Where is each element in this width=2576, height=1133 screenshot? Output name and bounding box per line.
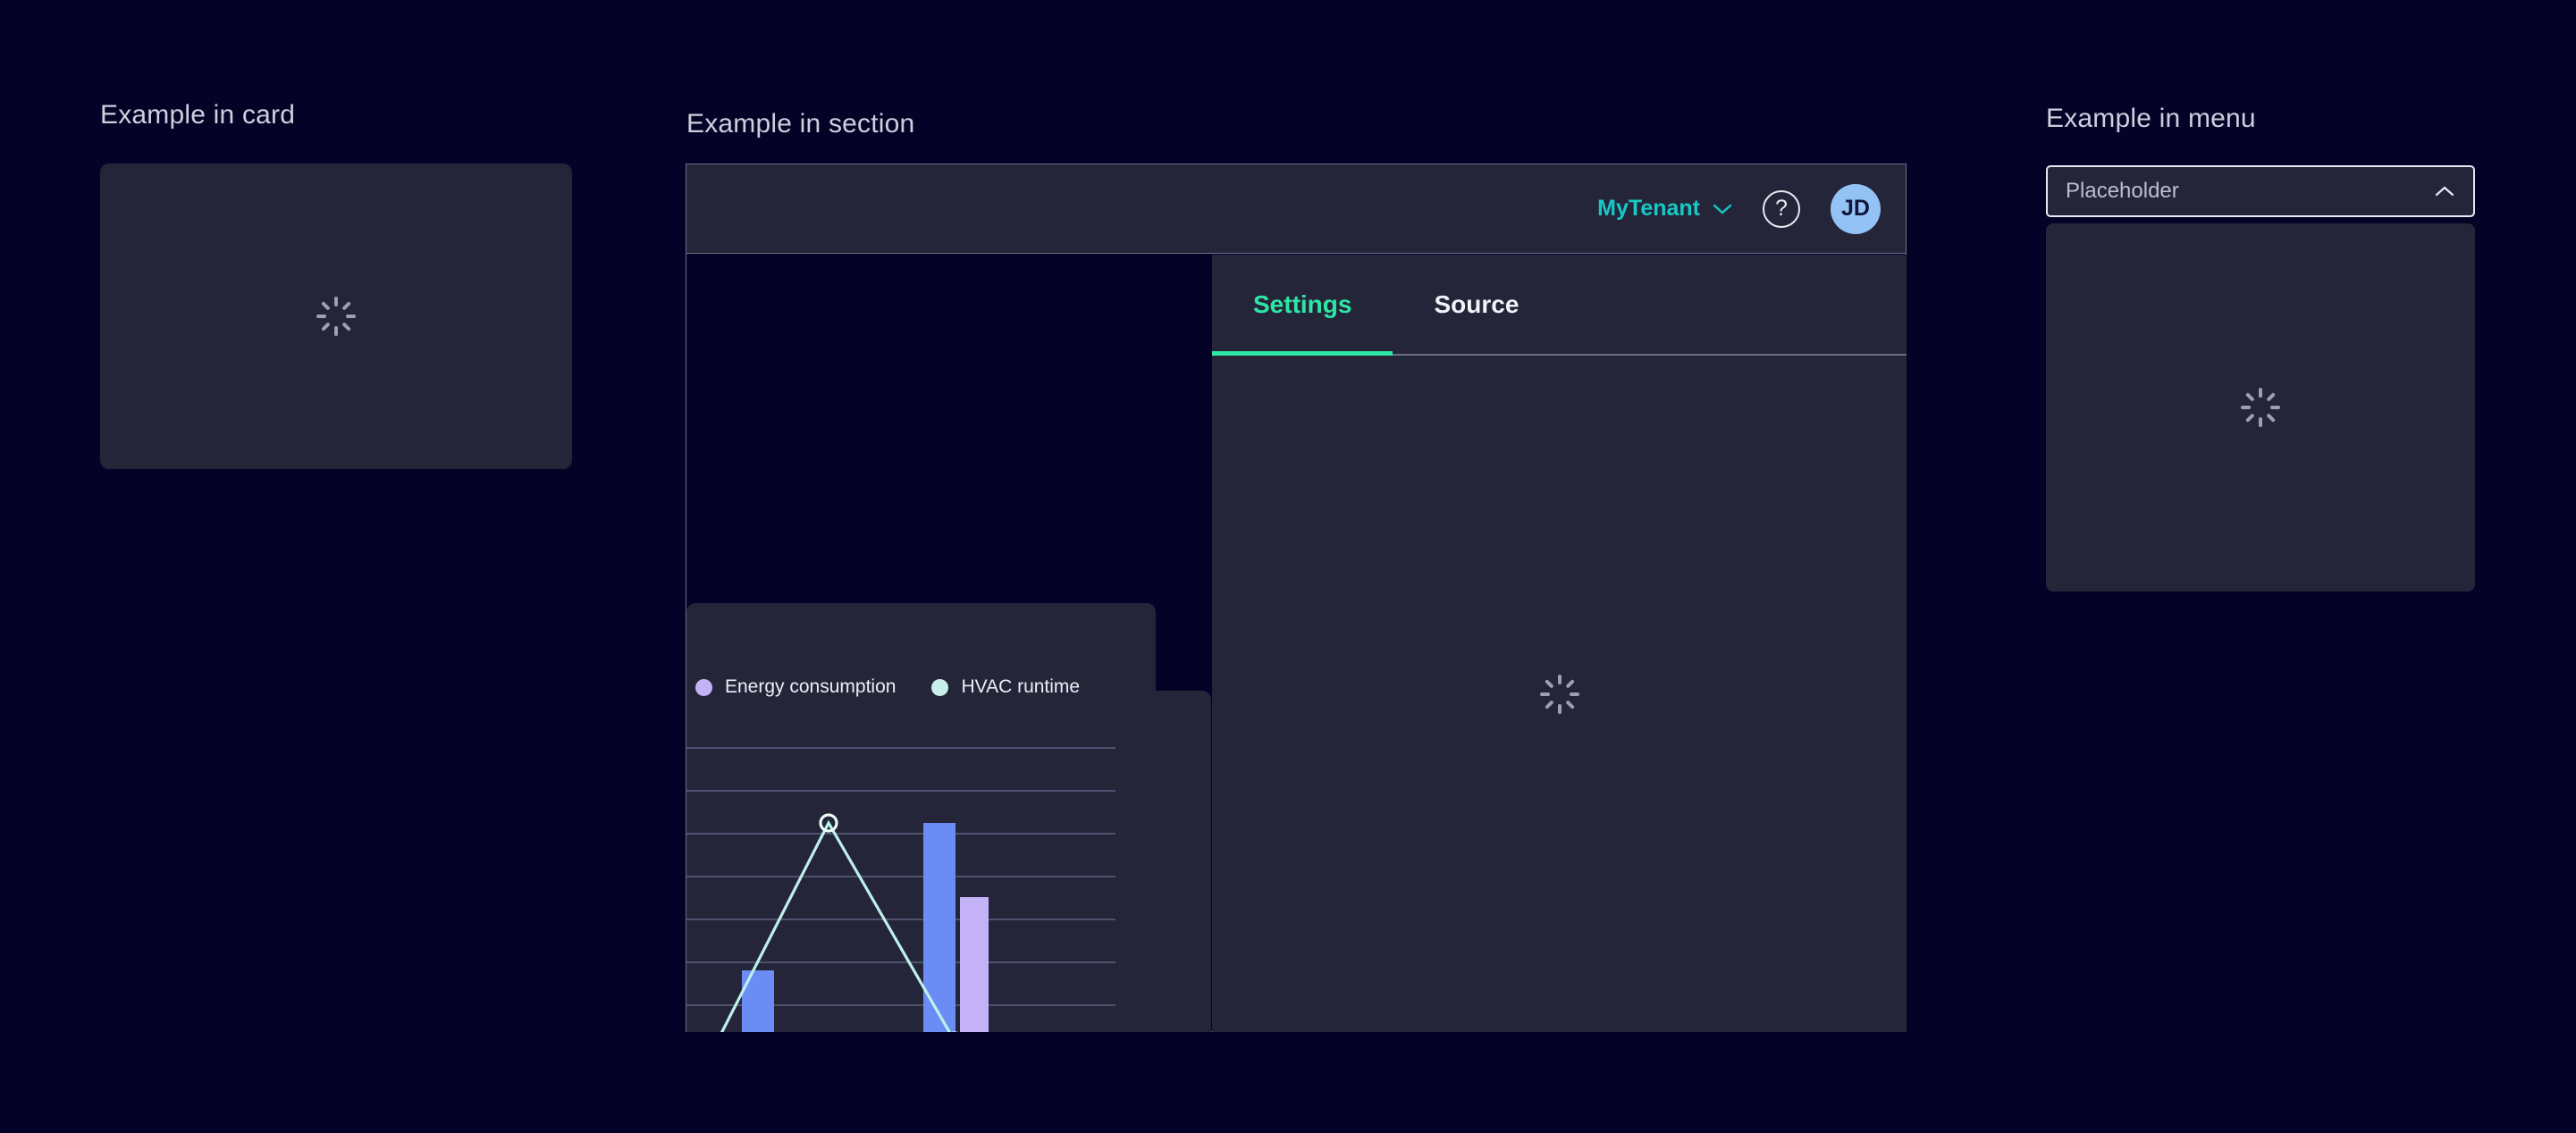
legend-swatch-icon [931, 679, 948, 696]
loading-spinner-icon [316, 296, 357, 337]
legend-item[interactable]: HVAC runtime [931, 676, 1080, 698]
tab-settings[interactable]: Settings [1212, 255, 1393, 354]
secondary-strip-panel [1156, 691, 1211, 1032]
loading-spinner-icon [1539, 674, 1580, 715]
avatar-initials: JD [1841, 196, 1870, 222]
card-example-heading: Example in card [100, 100, 295, 130]
section-example-heading: Example in section [686, 109, 914, 139]
legend-label: Energy consumption [725, 676, 896, 698]
example-card [100, 164, 572, 469]
bar [960, 897, 989, 1032]
tenant-switcher[interactable]: MyTenant [1597, 196, 1732, 222]
tab-bar: Settings Source [1212, 255, 1907, 356]
help-question-icon[interactable]: ? [1763, 190, 1800, 228]
tab-label: Source [1434, 290, 1519, 319]
avatar[interactable]: JD [1831, 184, 1881, 234]
bar [742, 970, 774, 1032]
page-root: Example in card Example in section MyTen… [0, 0, 2576, 1133]
chart-plot [686, 728, 1156, 1032]
dropdown-menu-panel [2046, 223, 2475, 592]
menu-example-heading: Example in menu [2046, 104, 2256, 134]
bar [923, 823, 955, 1032]
tab-source[interactable]: Source [1393, 255, 1560, 354]
select-value: Placeholder [2066, 179, 2179, 204]
legend-swatch-icon [695, 679, 712, 696]
select-input[interactable]: Placeholder [2046, 165, 2475, 217]
settings-panel-body [1212, 356, 1907, 1032]
section-right-pane: Settings Source [1212, 255, 1907, 1032]
chevron-down-icon [1713, 196, 1732, 222]
legend-label: HVAC runtime [961, 676, 1080, 698]
section-left-pane: Energy consumption HVAC runtime [686, 255, 1211, 1032]
legend-item[interactable]: Energy consumption [695, 676, 896, 698]
section-topbar: MyTenant ? JD [686, 164, 1906, 254]
example-section: MyTenant ? JD Energ [686, 164, 1907, 1032]
loading-spinner-icon [2240, 387, 2281, 428]
tenant-label: MyTenant [1597, 196, 1700, 222]
line-series [686, 823, 955, 1032]
chart-legend: Energy consumption HVAC runtime [695, 676, 1080, 698]
tab-label: Settings [1253, 290, 1351, 319]
chevron-up-icon [2434, 180, 2455, 203]
help-glyph: ? [1775, 196, 1788, 222]
chart-popup-card: Energy consumption HVAC runtime [686, 603, 1156, 1032]
